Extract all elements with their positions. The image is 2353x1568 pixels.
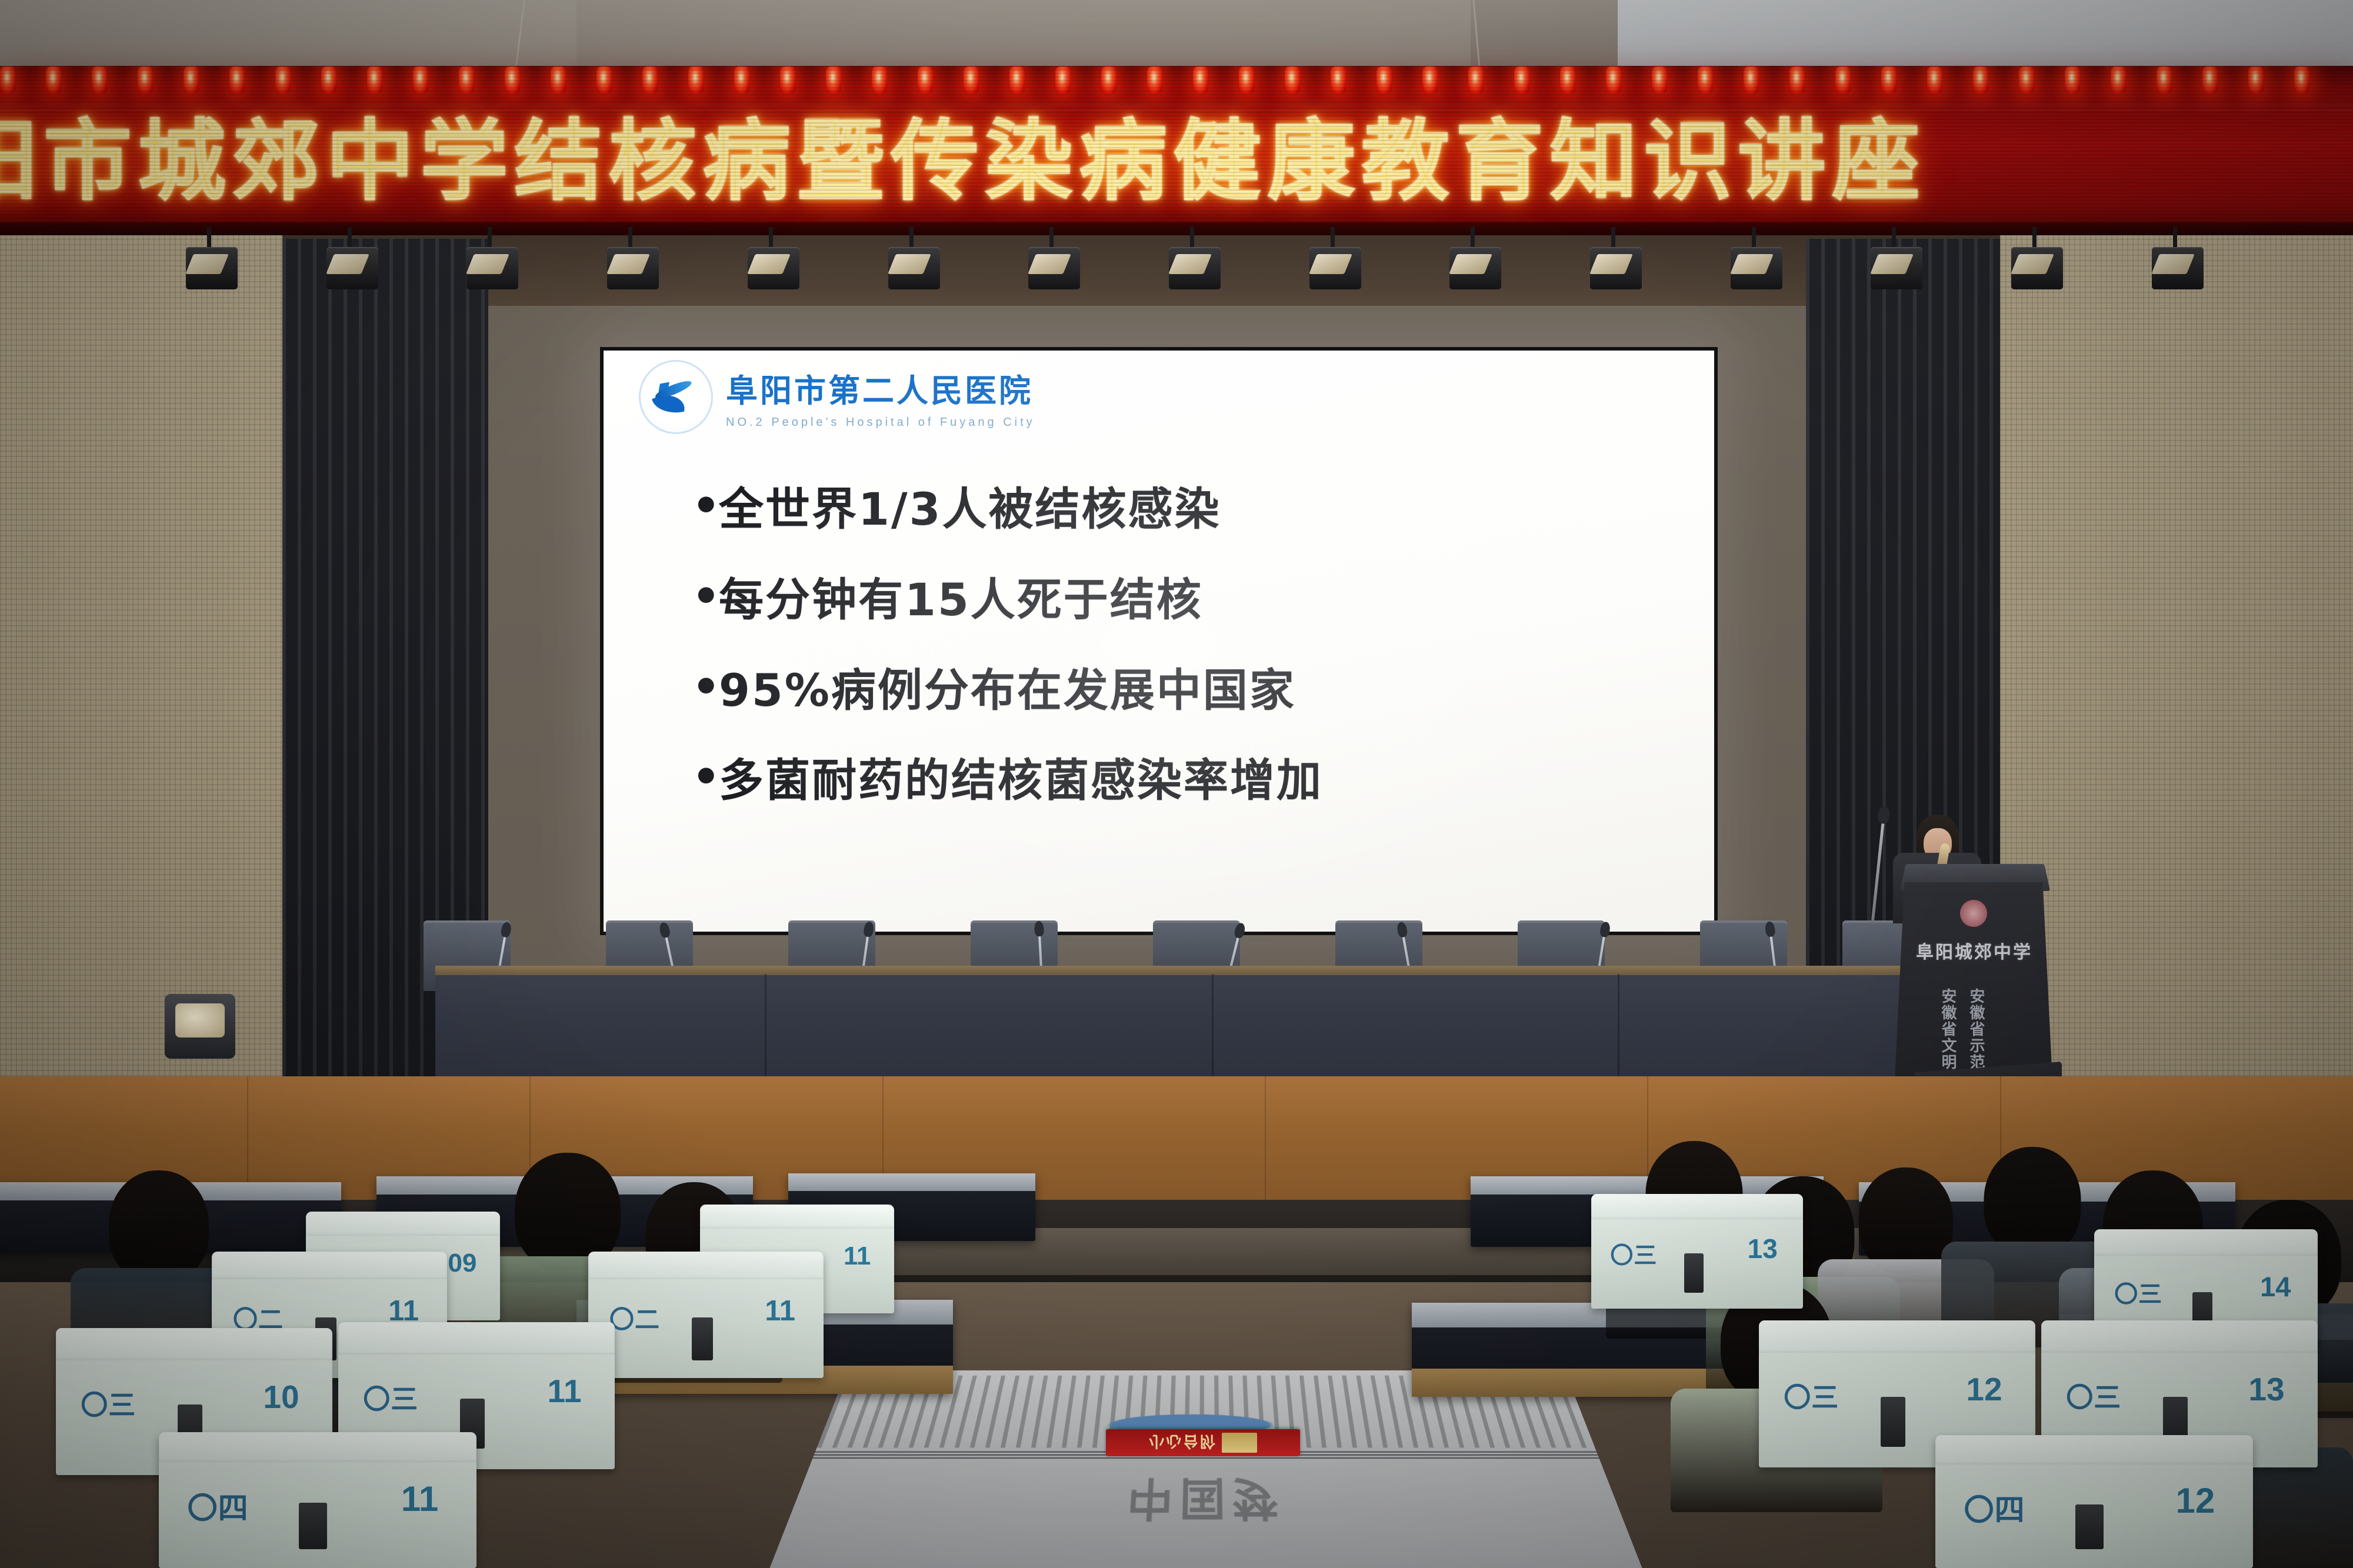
seat-cover-top xyxy=(159,1432,476,1462)
hospital-logo: 阜阳市第二人民医院 NO.2 People's Hospital of Fuya… xyxy=(639,360,1035,434)
seat-clip-icon xyxy=(1684,1253,1703,1292)
led-banner-text: 阳市城郊中学结核病暨传染病健康教育知识讲座 xyxy=(0,118,2353,206)
stage-light xyxy=(1861,227,1931,309)
carpet-text: 中国梦 xyxy=(782,1470,1629,1536)
stage-light xyxy=(457,227,526,309)
seat-clip-icon xyxy=(2075,1504,2104,1550)
seat-cover-top xyxy=(1759,1320,2035,1353)
stage-light xyxy=(1159,227,1229,309)
student-head xyxy=(109,1170,209,1282)
aisle-carpet: 中国梦 xyxy=(765,1370,1647,1568)
seat-cover-top xyxy=(212,1252,447,1279)
sign-plate-icon xyxy=(1222,1433,1257,1453)
seat-number-label: 09 xyxy=(448,1249,476,1278)
seat-cover-top xyxy=(700,1205,894,1229)
seat-number-label: 13 xyxy=(2248,1370,2284,1408)
stage-light xyxy=(317,227,386,309)
stage-light xyxy=(1581,227,1650,309)
seat-row-label: 〇四 xyxy=(1964,1486,2025,1529)
floor-stage-light xyxy=(165,994,235,1059)
auditorium-scene: 阳市城郊中学结核病暨传染病健康教育知识讲座 阜阳市第二人民医 xyxy=(0,0,2353,1568)
seat-number-label: 12 xyxy=(2175,1480,2215,1521)
slide-bullet-text: 全世界1/3人被结核感染 xyxy=(719,486,1221,533)
stage-light xyxy=(1440,227,1509,309)
stage-light xyxy=(598,227,667,309)
step-warning-sign: 小心台阶 xyxy=(1106,1429,1300,1456)
stage-light xyxy=(176,227,246,309)
acoustic-wall-left xyxy=(0,235,282,1076)
seat-row-label: 〇三 xyxy=(2066,1376,2121,1415)
stage-light xyxy=(1300,227,1369,309)
audience-seat[interactable]: 〇四11 xyxy=(159,1432,476,1568)
seat-cover-top xyxy=(2094,1229,2318,1256)
audience-seat[interactable]: 〇三13 xyxy=(1591,1194,1803,1309)
seat-row-label: 〇二 xyxy=(609,1300,660,1336)
hospital-name-cn: 阜阳市第二人民医院 xyxy=(726,365,1035,411)
podium-school-name: 阜阳城郊中学 xyxy=(1904,938,2045,963)
led-bulb-row xyxy=(0,66,2353,98)
seat-cover-top xyxy=(2041,1320,2318,1353)
seat-row-label: 〇三 xyxy=(81,1384,136,1423)
hospital-logo-icon xyxy=(639,360,713,434)
seat-row-label: 〇四 xyxy=(188,1484,249,1527)
slide-bullet-text: 多菌耐药的结核菌感染率增加 xyxy=(719,757,1323,804)
slide-bullet-list: • 全世界1/3人被结核感染 • 每分钟有15人死于结核 • 95%病例分布在发… xyxy=(692,486,1692,848)
audience-seat[interactable]: 〇四12 xyxy=(1935,1435,2253,1568)
seat-cover-top xyxy=(1935,1435,2253,1464)
stage-light xyxy=(1721,227,1791,309)
seat-number-label: 11 xyxy=(844,1242,871,1271)
seat-clip-icon xyxy=(692,1317,713,1360)
hospital-name-en: NO.2 People's Hospital of Fuyang City xyxy=(726,416,1035,429)
seat-number-label: 10 xyxy=(263,1378,299,1416)
seat-cover-top xyxy=(338,1322,615,1355)
stage-light xyxy=(2002,227,2071,309)
bullet-icon: • xyxy=(692,576,719,616)
seat-cover-top xyxy=(56,1328,332,1360)
seat-cover-top xyxy=(588,1252,824,1279)
stage-light xyxy=(879,227,948,309)
student-head xyxy=(1859,1167,1953,1273)
ceiling-panel-right xyxy=(1618,0,2353,71)
seat-row-label: 〇三 xyxy=(363,1378,418,1417)
seat-number-label: 11 xyxy=(547,1372,581,1410)
slide-bullet-item: • 全世界1/3人被结核感染 xyxy=(692,486,1692,533)
acoustic-wall-right xyxy=(2000,235,2353,1076)
seat-cover-top xyxy=(1591,1194,1803,1219)
seat-number-label: 12 xyxy=(1966,1370,2002,1408)
seat-row-label: 〇三 xyxy=(1610,1237,1657,1270)
seat-cover-top xyxy=(306,1212,500,1236)
stage-light-bar xyxy=(176,227,2212,315)
slide-bullet-text: 95%病例分布在发展中国家 xyxy=(719,667,1296,714)
bullet-icon: • xyxy=(692,486,719,526)
seat-number-label: 11 xyxy=(765,1295,795,1327)
led-banner: 阳市城郊中学结核病暨传染病健康教育知识讲座 xyxy=(0,66,2353,236)
stage-light xyxy=(1019,227,1088,309)
seat-number-label: 13 xyxy=(1748,1233,1778,1265)
step-warning-text: 小心台阶 xyxy=(1149,1432,1217,1454)
slide-bullet-item: • 每分钟有15人死于结核 xyxy=(692,576,1692,623)
seat-number-label: 11 xyxy=(401,1479,438,1519)
school-emblem-icon xyxy=(1960,900,1987,927)
seat-row-label: 〇三 xyxy=(1784,1376,1839,1415)
projection-screen: 阜阳市第二人民医院 NO.2 People's Hospital of Fuya… xyxy=(604,351,1714,932)
seat-row-label: 〇三 xyxy=(2114,1275,2162,1309)
bullet-icon: • xyxy=(692,757,719,797)
slide-bullet-item: • 多菌耐药的结核菌感染率增加 xyxy=(692,757,1692,804)
seat-clip-icon xyxy=(1881,1397,1905,1447)
bullet-icon: • xyxy=(692,667,719,707)
slide-bullet-text: 每分钟有15人死于结核 xyxy=(719,576,1203,623)
stage-light xyxy=(738,227,808,309)
seat-clip-icon xyxy=(299,1503,328,1549)
stage-light xyxy=(2142,227,2212,309)
slide-bullet-item: • 95%病例分布在发展中国家 xyxy=(692,667,1692,714)
seat-number-label: 14 xyxy=(2260,1270,2291,1303)
audience-seat[interactable]: 〇二11 xyxy=(588,1252,824,1378)
